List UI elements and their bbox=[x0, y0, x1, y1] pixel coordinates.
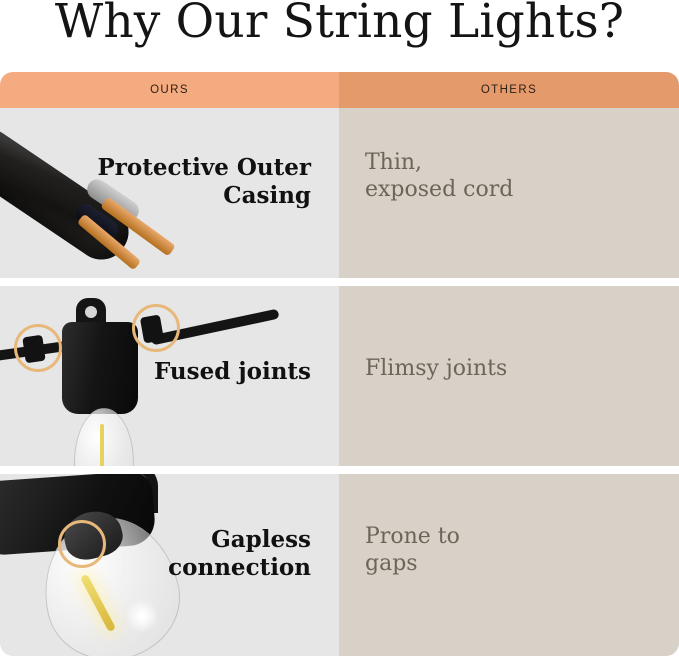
bulb-glow bbox=[124, 600, 160, 632]
feature-label-ours: Protective Outer Casing bbox=[97, 154, 311, 210]
table-header-row: OURS OTHERS bbox=[0, 72, 679, 108]
cell-others-row-1: Thin, exposed cord bbox=[339, 108, 679, 278]
cell-ours-row-3: Gapless connection bbox=[0, 474, 339, 656]
feature-label-others: Flimsy joints bbox=[365, 356, 507, 383]
highlight-ring-icon bbox=[132, 304, 180, 352]
feature-label-others: Thin, exposed cord bbox=[365, 150, 513, 204]
feature-label-ours: Fused joints bbox=[154, 358, 311, 386]
comparison-infographic: Why Our String Lights? OURS OTHERS Prote… bbox=[0, 0, 679, 656]
comparison-row: Fused joints Flimsy joints bbox=[0, 286, 679, 466]
column-header-others: OTHERS bbox=[339, 72, 679, 108]
bulb-glass bbox=[74, 408, 134, 466]
column-header-ours: OURS bbox=[0, 72, 339, 108]
cell-ours-row-1: Protective Outer Casing bbox=[0, 108, 339, 278]
bulb-filament bbox=[100, 424, 104, 466]
comparison-table: OURS OTHERS Protective Outer Casing bbox=[0, 72, 679, 656]
feature-label-others: Prone to gaps bbox=[365, 524, 460, 578]
cell-others-row-2: Flimsy joints bbox=[339, 286, 679, 466]
page-title: Why Our String Lights? bbox=[0, 0, 679, 49]
comparison-row: Gapless connection Prone to gaps bbox=[0, 474, 679, 656]
socket-body bbox=[62, 322, 138, 414]
comparison-row: Protective Outer Casing Thin, exposed co… bbox=[0, 108, 679, 278]
cell-others-row-3: Prone to gaps bbox=[339, 474, 679, 656]
highlight-ring-icon bbox=[14, 324, 62, 372]
cell-ours-row-2: Fused joints bbox=[0, 286, 339, 466]
feature-label-ours: Gapless connection bbox=[168, 526, 311, 582]
highlight-ring-icon bbox=[58, 520, 106, 568]
